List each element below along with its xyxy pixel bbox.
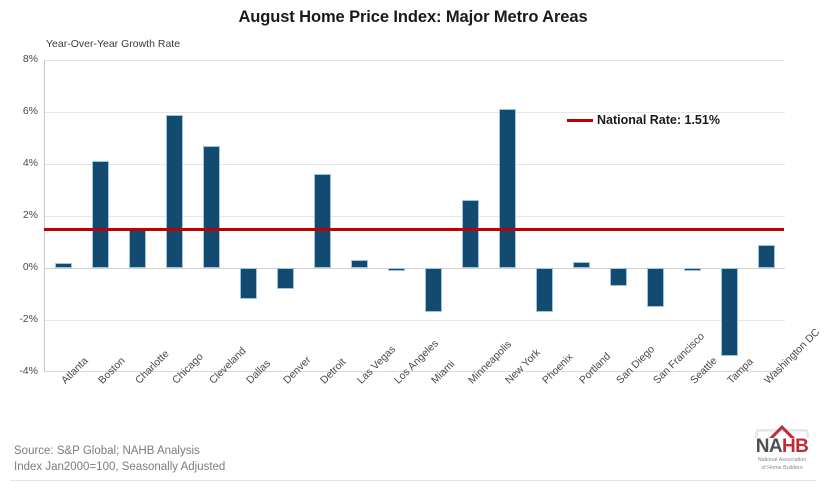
house-roof-icon bbox=[750, 425, 814, 438]
bar bbox=[684, 268, 701, 271]
nahb-logo: NAHB National Association of Home Builde… bbox=[744, 425, 820, 477]
bar bbox=[536, 268, 553, 312]
bar bbox=[647, 268, 664, 307]
y-axis-tick-label: -4% bbox=[0, 365, 38, 377]
nahb-wordmark: NAHB bbox=[744, 437, 820, 456]
chart-title: August Home Price Index: Major Metro Are… bbox=[0, 8, 826, 27]
bar bbox=[462, 200, 479, 268]
bar-series bbox=[45, 60, 785, 372]
footer-notes: Source: S&P Global; NAHB Analysis Index … bbox=[14, 443, 225, 475]
bar bbox=[758, 245, 775, 268]
bar bbox=[499, 109, 516, 268]
bar bbox=[166, 115, 183, 268]
index-note: Index Jan2000=100, Seasonally Adjusted bbox=[14, 459, 225, 475]
legend-label-national-rate: National Rate: 1.51% bbox=[597, 113, 720, 127]
y-axis-tick-label: 0% bbox=[0, 261, 38, 273]
bar bbox=[721, 268, 738, 356]
y-axis-tick-label: -2% bbox=[0, 313, 38, 325]
y-axis-tick-label: 6% bbox=[0, 105, 38, 117]
bar bbox=[55, 263, 72, 268]
nahb-wordmark-na: NA bbox=[756, 436, 782, 457]
bar bbox=[92, 161, 109, 268]
bar bbox=[240, 268, 257, 299]
bar bbox=[610, 268, 627, 286]
bar bbox=[129, 229, 146, 268]
nahb-wordmark-hb: HB bbox=[782, 436, 808, 457]
bar bbox=[425, 268, 442, 312]
national-rate-line-swatch-icon bbox=[567, 119, 593, 122]
footer-divider bbox=[10, 480, 816, 481]
source-note: Source: S&P Global; NAHB Analysis bbox=[14, 443, 225, 459]
y-axis-subtitle: Year-Over-Year Growth Rate bbox=[46, 38, 180, 50]
legend: National Rate: 1.51% bbox=[567, 113, 720, 127]
nahb-tagline-line1: National Association bbox=[744, 457, 820, 464]
y-axis-tick-label: 2% bbox=[0, 209, 38, 221]
bar bbox=[573, 262, 590, 269]
bar bbox=[388, 268, 405, 271]
bar bbox=[351, 260, 368, 268]
chart-container: August Home Price Index: Major Metro Are… bbox=[0, 0, 826, 488]
bar bbox=[203, 146, 220, 268]
nahb-tagline-line2: of Home Builders bbox=[744, 465, 820, 472]
plot-area bbox=[44, 60, 784, 372]
bar bbox=[277, 268, 294, 289]
bar bbox=[314, 174, 331, 268]
national-rate-line bbox=[44, 228, 784, 231]
y-axis-tick-label: 8% bbox=[0, 53, 38, 65]
y-axis-tick-label: 4% bbox=[0, 157, 38, 169]
